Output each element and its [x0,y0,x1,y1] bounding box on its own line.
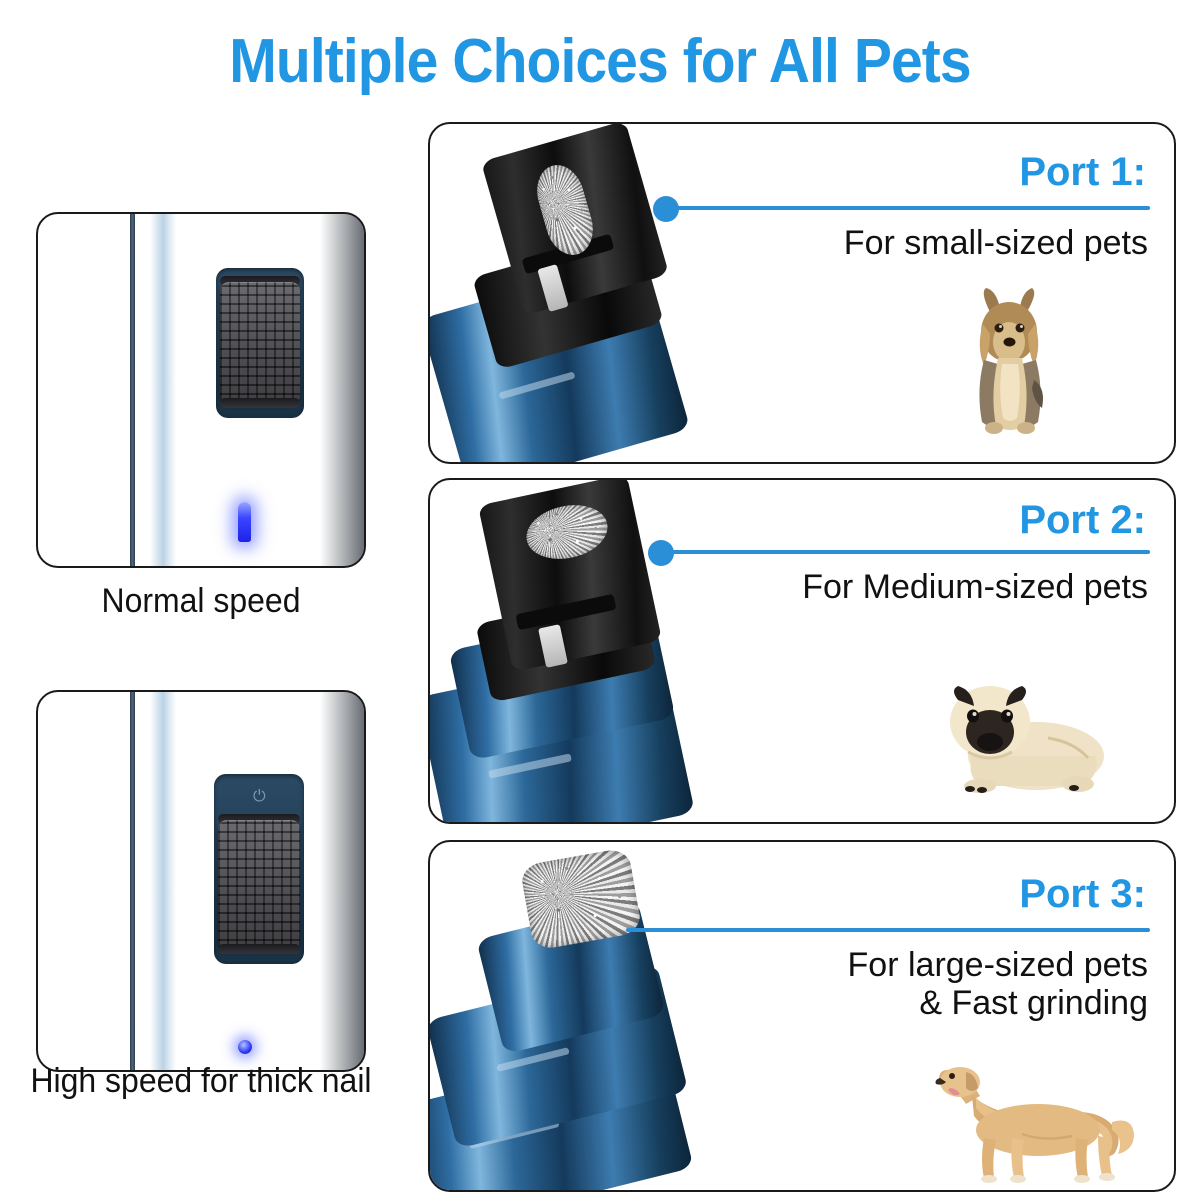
port-1-title: Port 1: [1019,150,1146,195]
page-title: Multiple Choices for All Pets [48,26,1152,97]
device-highlight [150,212,176,568]
pet-image-golden-retriever [926,1038,1138,1188]
port-1-description: For small-sized pets [844,224,1148,262]
device-seam [130,690,135,1072]
led-indicator [238,502,251,542]
switch-cap-bottom [218,944,300,954]
device-body-photo-high: ⏻ [38,692,364,1070]
callout-line-port-2 [663,550,1150,554]
switch-cap-bottom [220,398,300,408]
infographic-page: Multiple Choices for All Pets Normal spe… [0,0,1200,1200]
port-card-2: Port 2: For Medium-sized pets [428,478,1176,824]
led-indicator [238,1040,252,1054]
device-shadow-edge [320,690,366,1072]
callout-line-port-3 [626,928,1150,932]
port-2-title: Port 2: [1019,498,1146,543]
pet-image-yorkshire-terrier [950,284,1070,444]
device-body-photo-normal [38,214,364,566]
power-icon: ⏻ [253,788,266,804]
callout-line-port-1 [668,206,1150,210]
speed-card-normal-label: Normal speed [27,582,375,621]
speed-card-high-label: High speed for thick nail [8,1062,393,1101]
speed-switch-button[interactable] [218,820,300,950]
port-3-description: For large-sized pets & Fast grinding [848,946,1148,1022]
speed-card-normal [36,212,366,568]
pet-image-pug [928,660,1118,800]
port-3-title: Port 3: [1019,872,1146,917]
device-shadow-edge [320,212,366,568]
speed-switch-button[interactable] [220,282,300,404]
speed-card-high: ⏻ [36,690,366,1072]
device-highlight [150,690,176,1072]
port-card-1: Port 1: For small-sized pets [428,122,1176,464]
port-card-3: Port 3: For large-sized pets & Fast grin… [428,840,1176,1192]
port-2-description: For Medium-sized pets [802,568,1148,606]
device-seam [130,212,135,568]
